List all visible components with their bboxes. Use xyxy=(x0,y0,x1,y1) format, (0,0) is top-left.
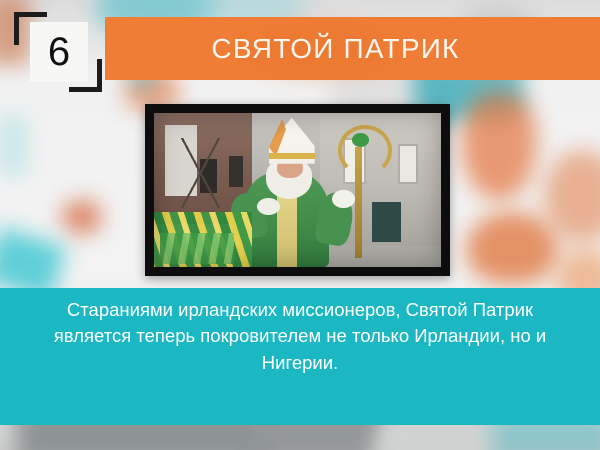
saint-patrick-photo xyxy=(154,113,441,267)
caption-band: Стараниями ирландских миссионеров, Свято… xyxy=(0,288,600,425)
background-blob xyxy=(462,92,536,200)
background-blob xyxy=(62,200,102,234)
slide-number-box: 6 xyxy=(30,22,88,82)
background-blob xyxy=(544,150,600,242)
photo-vignette xyxy=(154,113,441,267)
title-bar: СВЯТОЙ ПАТРИК xyxy=(105,17,600,80)
slide-number-badge: 6 xyxy=(14,12,102,92)
slide-number-value: 6 xyxy=(48,32,70,72)
photo-frame xyxy=(145,104,450,276)
background-blob xyxy=(0,116,26,176)
caption-text: Стараниями ирландских миссионеров, Свято… xyxy=(30,297,570,376)
background-blob xyxy=(466,212,558,284)
page-title: СВЯТОЙ ПАТРИК xyxy=(211,33,493,65)
slide: СВЯТОЙ ПАТРИК 6 xyxy=(0,0,600,450)
